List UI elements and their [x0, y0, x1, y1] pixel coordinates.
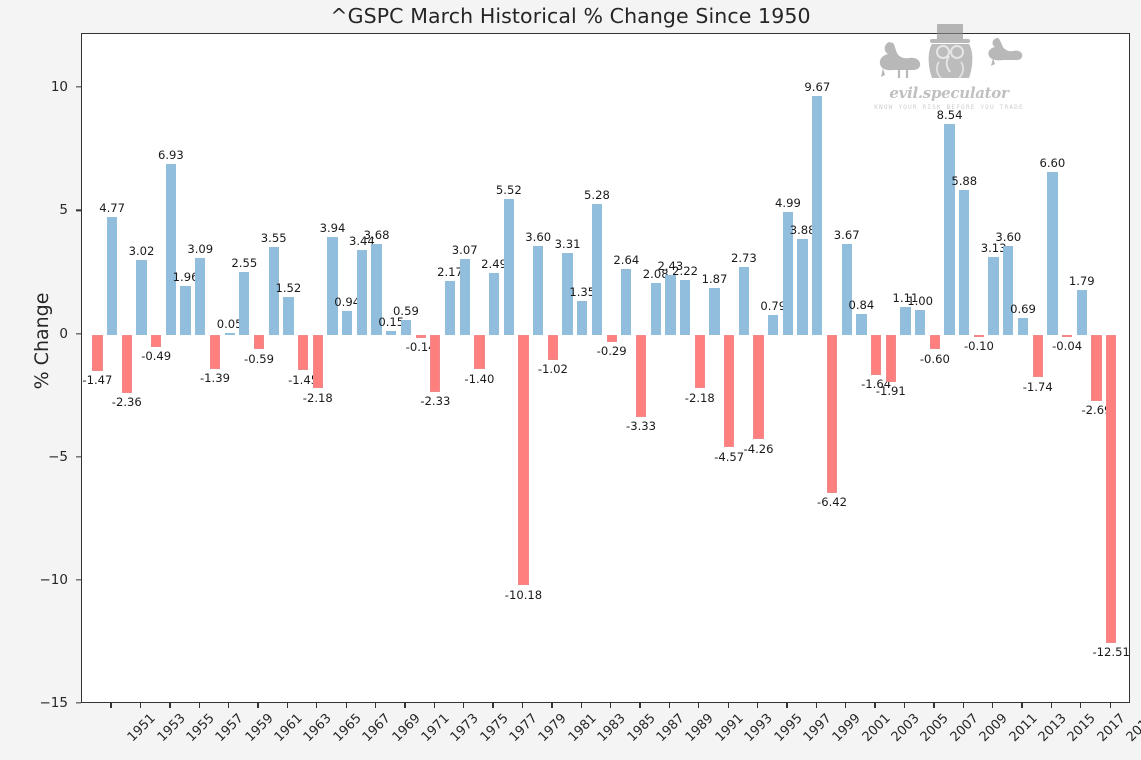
bar	[136, 260, 146, 334]
bar	[166, 164, 176, 335]
x-axis-tick	[522, 703, 523, 708]
bar-value-label: -4.26	[744, 442, 774, 456]
y-axis-tick-label: 0	[8, 326, 68, 342]
bar-value-label: 6.93	[158, 148, 184, 162]
x-axis-tick	[316, 703, 317, 708]
bar-value-label: -1.91	[876, 384, 906, 398]
bar	[1062, 335, 1072, 337]
x-axis-tick-label: 1955	[184, 711, 218, 745]
bar-value-label: -0.29	[597, 344, 627, 358]
bar	[92, 335, 102, 371]
x-axis-tick	[669, 703, 670, 708]
bar	[489, 273, 499, 334]
bar	[812, 96, 822, 334]
x-axis-tick	[1021, 703, 1022, 708]
bar-value-label: 8.54	[937, 108, 963, 122]
bar	[709, 288, 719, 334]
bar	[225, 333, 235, 335]
bar-value-label: 3.07	[452, 243, 478, 257]
x-axis-tick-label: 1971	[419, 711, 453, 745]
bar-value-label: -4.57	[714, 450, 744, 464]
x-axis-tick	[110, 703, 111, 708]
bar-value-label: -2.18	[303, 391, 333, 405]
bar	[856, 314, 866, 335]
bar	[1077, 290, 1087, 334]
x-axis-tick-label: 1981	[566, 711, 600, 745]
bar-value-label: 4.77	[99, 201, 125, 215]
bar	[254, 335, 264, 350]
page-title: ^GSPC March Historical % Change Since 19…	[0, 4, 1141, 28]
bar-value-label: 3.67	[834, 228, 860, 242]
x-axis-tick-label: 2013	[1036, 711, 1070, 745]
x-axis-tick	[434, 703, 435, 708]
bar	[416, 335, 426, 338]
x-axis-tick-label: 2015	[1065, 711, 1099, 745]
bar	[445, 281, 455, 334]
bar	[651, 283, 661, 334]
y-axis-tick-label: −15	[8, 695, 68, 711]
bar-value-label: 0.69	[1010, 302, 1036, 316]
bar	[401, 320, 411, 335]
x-axis-tick	[1051, 703, 1052, 708]
bar-value-label: -1.02	[538, 362, 568, 376]
x-axis-tick-label: 2019	[1124, 711, 1141, 745]
bar-value-label: -12.51	[1092, 645, 1129, 659]
bar-value-label: 1.52	[275, 281, 301, 295]
bar	[430, 335, 440, 392]
bar	[915, 310, 925, 335]
x-axis-tick	[698, 703, 699, 708]
x-axis-tick	[933, 703, 934, 708]
bar-value-label: 2.64	[613, 253, 639, 267]
x-axis-tick-label: 1995	[771, 711, 805, 745]
x-axis-tick	[169, 703, 170, 708]
x-axis-tick	[140, 703, 141, 708]
chart-page: ^GSPC March Historical % Change Since 19…	[0, 0, 1141, 760]
bar	[342, 311, 352, 334]
bar-value-label: -0.60	[920, 352, 950, 366]
bar-value-label: -2.18	[685, 391, 715, 405]
bar	[739, 267, 749, 334]
x-axis-tick	[404, 703, 405, 708]
x-axis-tick	[874, 703, 875, 708]
bar-value-label: -1.40	[464, 372, 494, 386]
x-axis-tick-label: 2007	[948, 711, 982, 745]
bar-value-label: 3.68	[364, 228, 390, 242]
x-axis-tick-label: 1951	[125, 711, 159, 745]
bar-value-label: 6.60	[1039, 156, 1065, 170]
x-axis-tick-label: 2005	[918, 711, 952, 745]
x-axis-tick	[228, 703, 229, 708]
x-axis-tick-label: 1959	[242, 711, 276, 745]
x-axis-tick	[492, 703, 493, 708]
bar-value-label: -0.10	[964, 339, 994, 353]
bar-value-label: -0.04	[1052, 339, 1082, 353]
bar	[533, 246, 543, 335]
x-axis-tick	[199, 703, 200, 708]
x-axis-tick-label: 2003	[889, 711, 923, 745]
bar	[930, 335, 940, 350]
bar-value-label: 2.55	[231, 256, 257, 270]
x-axis-tick	[375, 703, 376, 708]
x-axis-tick-label: 1987	[654, 711, 688, 745]
bar	[636, 335, 646, 417]
x-axis-tick-label: 1979	[536, 711, 570, 745]
bar-value-label: 9.67	[804, 80, 830, 94]
bar-value-label: 1.87	[702, 272, 728, 286]
bar-value-label: 0.59	[393, 304, 419, 318]
bar-value-label: 3.94	[320, 221, 346, 235]
x-axis-tick-label: 2011	[1006, 711, 1040, 745]
bar	[239, 272, 249, 335]
bar	[1047, 172, 1057, 335]
x-axis-tick	[845, 703, 846, 708]
bar	[313, 335, 323, 389]
x-axis-tick-label: 1963	[301, 711, 335, 745]
x-axis-tick	[1110, 703, 1111, 708]
bar	[680, 280, 690, 335]
x-axis-tick	[581, 703, 582, 708]
x-axis-tick	[992, 703, 993, 708]
bar-value-label: -1.74	[1023, 380, 1053, 394]
x-axis-tick-label: 1957	[213, 711, 247, 745]
bar	[210, 335, 220, 369]
bar	[988, 257, 998, 334]
x-axis-tick-label: 1961	[272, 711, 306, 745]
y-axis-tick	[76, 579, 81, 580]
bar	[518, 335, 528, 586]
bar-value-label: -3.33	[626, 419, 656, 433]
bar-value-label: 2.22	[672, 264, 698, 278]
bar-value-label: -1.39	[200, 371, 230, 385]
bar	[1018, 318, 1028, 335]
bar	[768, 315, 778, 334]
y-axis-tick-label: 5	[8, 202, 68, 218]
bar-value-label: 2.73	[731, 251, 757, 265]
x-axis-tick-label: 1973	[448, 711, 482, 745]
bar-value-label: 5.88	[951, 174, 977, 188]
y-axis-tick	[76, 87, 81, 88]
bar	[900, 307, 910, 334]
bar-value-label: -10.18	[505, 588, 542, 602]
bar-value-label: -2.36	[112, 395, 142, 409]
x-axis-tick-label: 2017	[1094, 711, 1128, 745]
bar-value-label: 3.02	[129, 244, 155, 258]
bar	[753, 335, 763, 440]
bar	[665, 275, 675, 335]
x-axis-tick-label: 1969	[389, 711, 423, 745]
x-axis-tick-label: 1999	[830, 711, 864, 745]
x-axis-tick	[728, 703, 729, 708]
bar	[724, 335, 734, 448]
bar-value-label: 3.09	[187, 242, 213, 256]
bar	[1033, 335, 1043, 378]
x-axis-tick-label: 1953	[154, 711, 188, 745]
x-axis-tick	[904, 703, 905, 708]
bar	[886, 335, 896, 382]
x-axis-tick-label: 1997	[801, 711, 835, 745]
bar	[357, 250, 367, 335]
x-axis-tick-label: 1991	[712, 711, 746, 745]
bar-value-label: 4.99	[775, 196, 801, 210]
bar-value-label: 3.31	[555, 237, 581, 251]
x-axis-tick	[816, 703, 817, 708]
bar-value-label: 1.79	[1069, 274, 1095, 288]
x-axis-tick-label: 1977	[507, 711, 541, 745]
plot-area: -1.474.77-2.363.02-0.496.931.963.09-1.39…	[81, 33, 1130, 703]
bar-value-label: 3.60	[995, 230, 1021, 244]
y-axis-tick	[76, 456, 81, 457]
bar	[577, 301, 587, 334]
bar	[460, 259, 470, 335]
bar	[1091, 335, 1101, 401]
x-axis-tick	[786, 703, 787, 708]
y-axis-tick	[76, 210, 81, 211]
bar-value-label: -1.47	[82, 373, 112, 387]
bar	[944, 124, 954, 334]
x-axis-tick	[610, 703, 611, 708]
bar	[298, 335, 308, 371]
bar-value-label: 1.00	[907, 294, 933, 308]
x-axis-tick	[346, 703, 347, 708]
x-axis-tick-label: 2001	[859, 711, 893, 745]
bar	[959, 190, 969, 335]
bar	[695, 335, 705, 389]
bar-value-label: 5.52	[496, 183, 522, 197]
x-axis-tick-label: 1983	[595, 711, 629, 745]
bar	[107, 217, 117, 334]
bar	[327, 237, 337, 334]
bar	[283, 297, 293, 334]
bar	[474, 335, 484, 369]
bar	[504, 199, 514, 335]
y-axis-tick	[76, 702, 81, 703]
x-axis-tick	[551, 703, 552, 708]
bar	[386, 331, 396, 335]
bar-value-label: 3.60	[525, 230, 551, 244]
x-axis-tick-label: 1965	[330, 711, 364, 745]
x-axis-tick	[639, 703, 640, 708]
bar	[548, 335, 558, 360]
bar	[621, 269, 631, 334]
y-axis-tick	[76, 333, 81, 334]
bar	[592, 204, 602, 334]
bar	[974, 335, 984, 337]
x-axis-tick	[257, 703, 258, 708]
bar	[1003, 246, 1013, 335]
x-axis-tick-label: 1985	[624, 711, 658, 745]
bar-value-label: 3.55	[261, 231, 287, 245]
bar	[1106, 335, 1116, 643]
bar	[842, 244, 852, 334]
x-axis-tick	[757, 703, 758, 708]
bar	[195, 258, 205, 334]
bar	[151, 335, 161, 347]
bar	[122, 335, 132, 393]
bar-value-label: -2.33	[420, 394, 450, 408]
y-axis-tick-label: 10	[8, 79, 68, 95]
y-axis-tick-label: −10	[8, 572, 68, 588]
bar	[871, 335, 881, 375]
x-axis-tick	[1080, 703, 1081, 708]
bar	[180, 286, 190, 334]
x-axis-tick-label: 1993	[742, 711, 776, 745]
bar	[827, 335, 837, 493]
bar-value-label: -0.49	[141, 349, 171, 363]
y-axis-tick-label: −5	[8, 449, 68, 465]
x-axis-tick	[963, 703, 964, 708]
bar	[607, 335, 617, 342]
bar-value-label: -6.42	[817, 495, 847, 509]
plot-inner: -1.474.77-2.363.02-0.496.931.963.09-1.39…	[82, 34, 1129, 702]
bar-value-label: 5.28	[584, 188, 610, 202]
x-axis-tick-label: 1975	[477, 711, 511, 745]
bar-value-label: -0.59	[244, 352, 274, 366]
x-axis-tick	[287, 703, 288, 708]
x-axis-tick-label: 1989	[683, 711, 717, 745]
x-axis-tick	[463, 703, 464, 708]
bar	[797, 239, 807, 335]
bar-value-label: 0.84	[848, 298, 874, 312]
x-axis-tick-label: 1967	[360, 711, 394, 745]
x-axis-tick-label: 2009	[977, 711, 1011, 745]
